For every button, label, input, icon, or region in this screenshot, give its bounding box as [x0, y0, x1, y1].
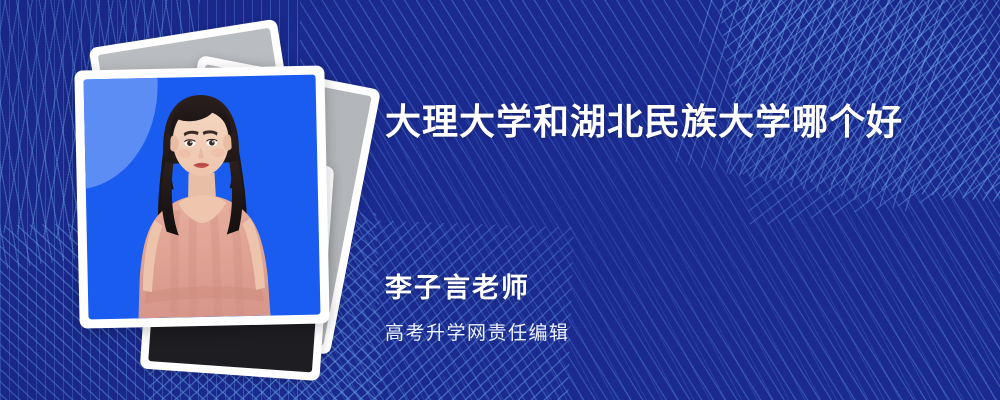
page-title: 大理大学和湖北民族大学哪个好 — [385, 100, 903, 143]
author-role: 高考升学网责任编辑 — [385, 322, 570, 347]
author-photo — [84, 75, 321, 320]
photo-card-stack — [52, 30, 352, 375]
author-photo-card — [74, 65, 329, 328]
portrait-illustration — [84, 75, 321, 320]
author-name: 李子言老师 — [385, 272, 530, 304]
banner-text-block: 大理大学和湖北民族大学哪个好 李子言老师 高考升学网责任编辑 — [385, 0, 985, 400]
article-banner: 大理大学和湖北民族大学哪个好 李子言老师 高考升学网责任编辑 — [0, 0, 1000, 400]
